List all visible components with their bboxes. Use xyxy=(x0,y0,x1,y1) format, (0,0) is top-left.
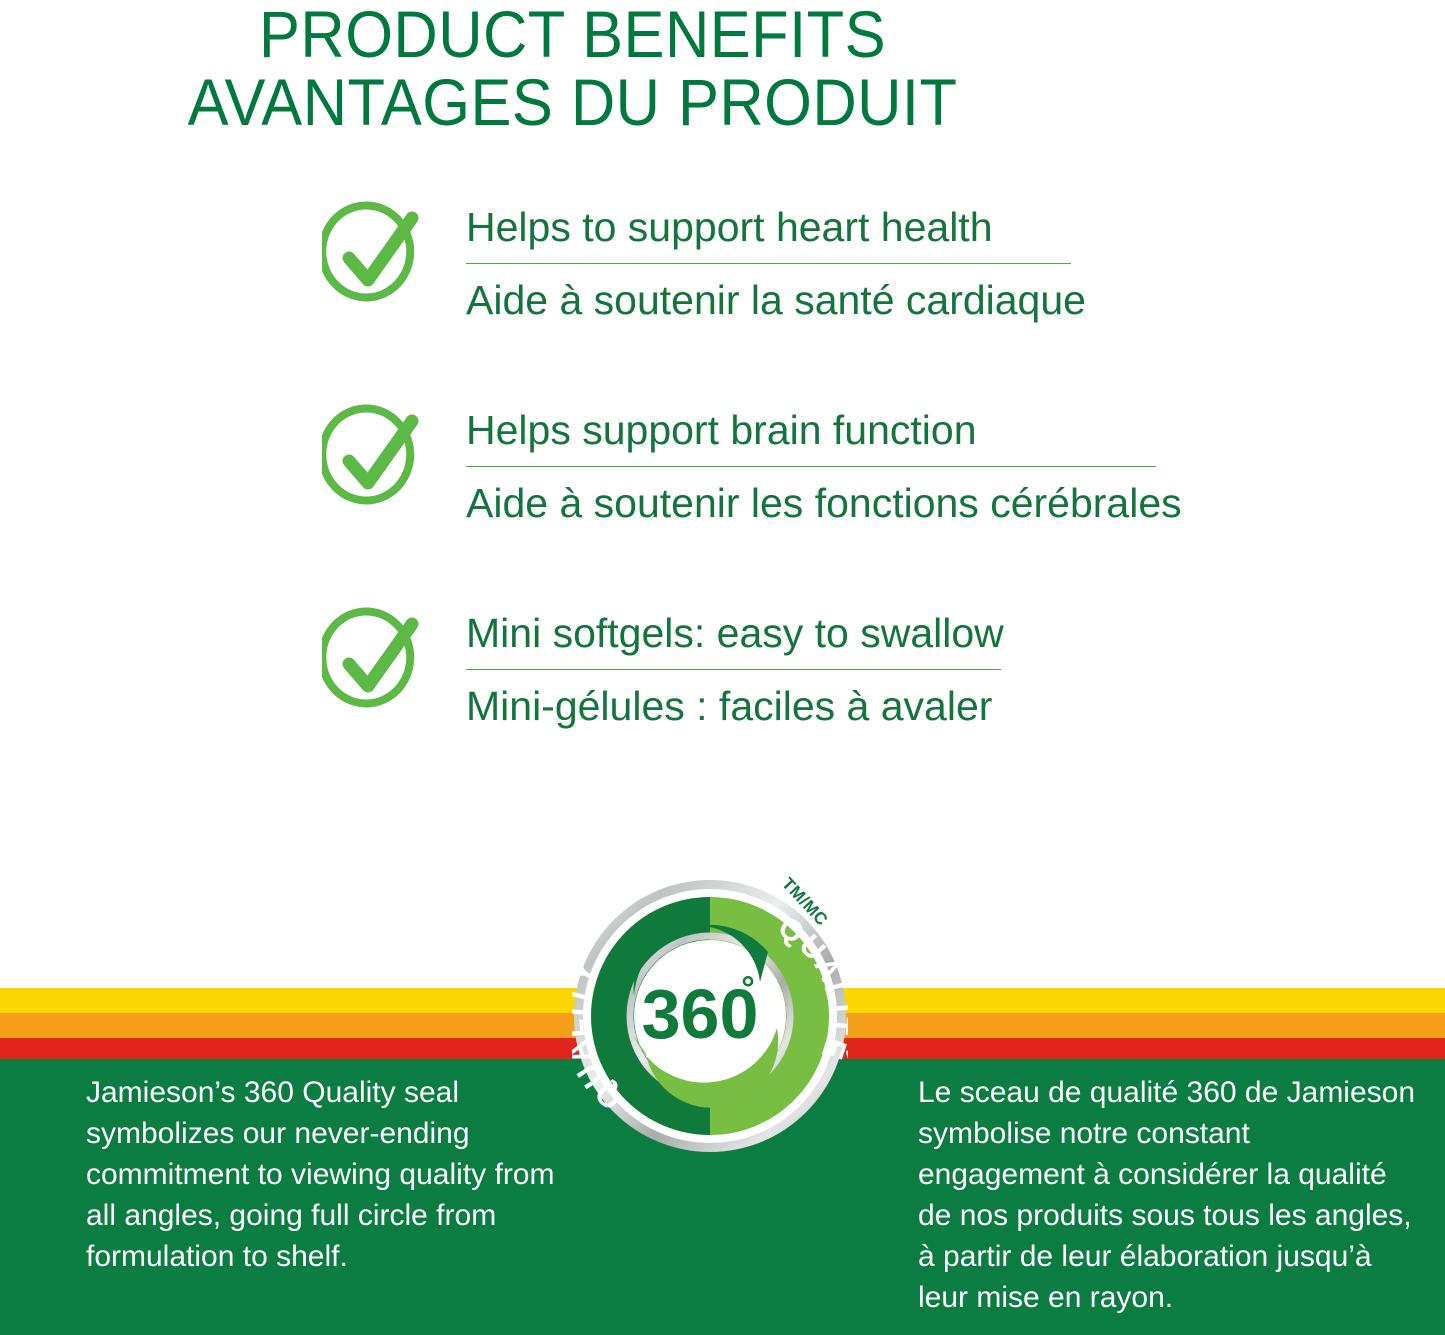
benefit-text: Helps support brain function Aide à sout… xyxy=(466,399,1422,528)
page-title: PRODUCT BENEFITS AVANTAGES DU PRODUIT xyxy=(40,0,1105,136)
benefit-item: Mini softgels: easy to swallow Mini-gélu… xyxy=(322,602,1422,731)
benefit-text-en: Helps to support heart health xyxy=(466,202,1422,252)
benefit-text: Mini softgels: easy to swallow Mini-gélu… xyxy=(466,602,1422,731)
benefits-list: Helps to support heart health Aide à sou… xyxy=(322,196,1422,731)
benefit-divider xyxy=(466,466,1156,467)
seal-description-fr: Le sceau de qualité 360 de Jamieson symb… xyxy=(918,1072,1418,1318)
check-circle-icon xyxy=(322,606,428,714)
product-benefits-panel: PRODUCT BENEFITS AVANTAGES DU PRODUIT He… xyxy=(0,0,1445,1335)
check-circle-icon xyxy=(322,403,428,511)
benefit-text: Helps to support heart health Aide à sou… xyxy=(466,196,1422,325)
svg-text:°: ° xyxy=(741,970,755,1008)
benefit-text-fr: Aide à soutenir les fonctions cérébrales xyxy=(466,478,1422,528)
benefit-text-fr: Aide à soutenir la santé cardiaque xyxy=(466,275,1422,325)
benefit-item: Helps to support heart health Aide à sou… xyxy=(322,196,1422,325)
benefit-text-fr: Mini-gélules : faciles à avaler xyxy=(466,681,1422,731)
check-circle-icon xyxy=(322,200,428,308)
page-title-en: PRODUCT BENEFITS xyxy=(40,0,1105,68)
benefit-text-en: Helps support brain function xyxy=(466,405,1422,455)
seal-description-en: Jamieson’s 360 Quality seal symbolizes o… xyxy=(86,1072,556,1277)
benefit-item: Helps support brain function Aide à sout… xyxy=(322,399,1422,528)
benefit-divider xyxy=(466,669,1001,670)
benefit-text-en: Mini softgels: easy to swallow xyxy=(466,608,1422,658)
benefit-divider xyxy=(466,263,1071,264)
page-title-fr: AVANTAGES DU PRODUIT xyxy=(40,68,1105,136)
